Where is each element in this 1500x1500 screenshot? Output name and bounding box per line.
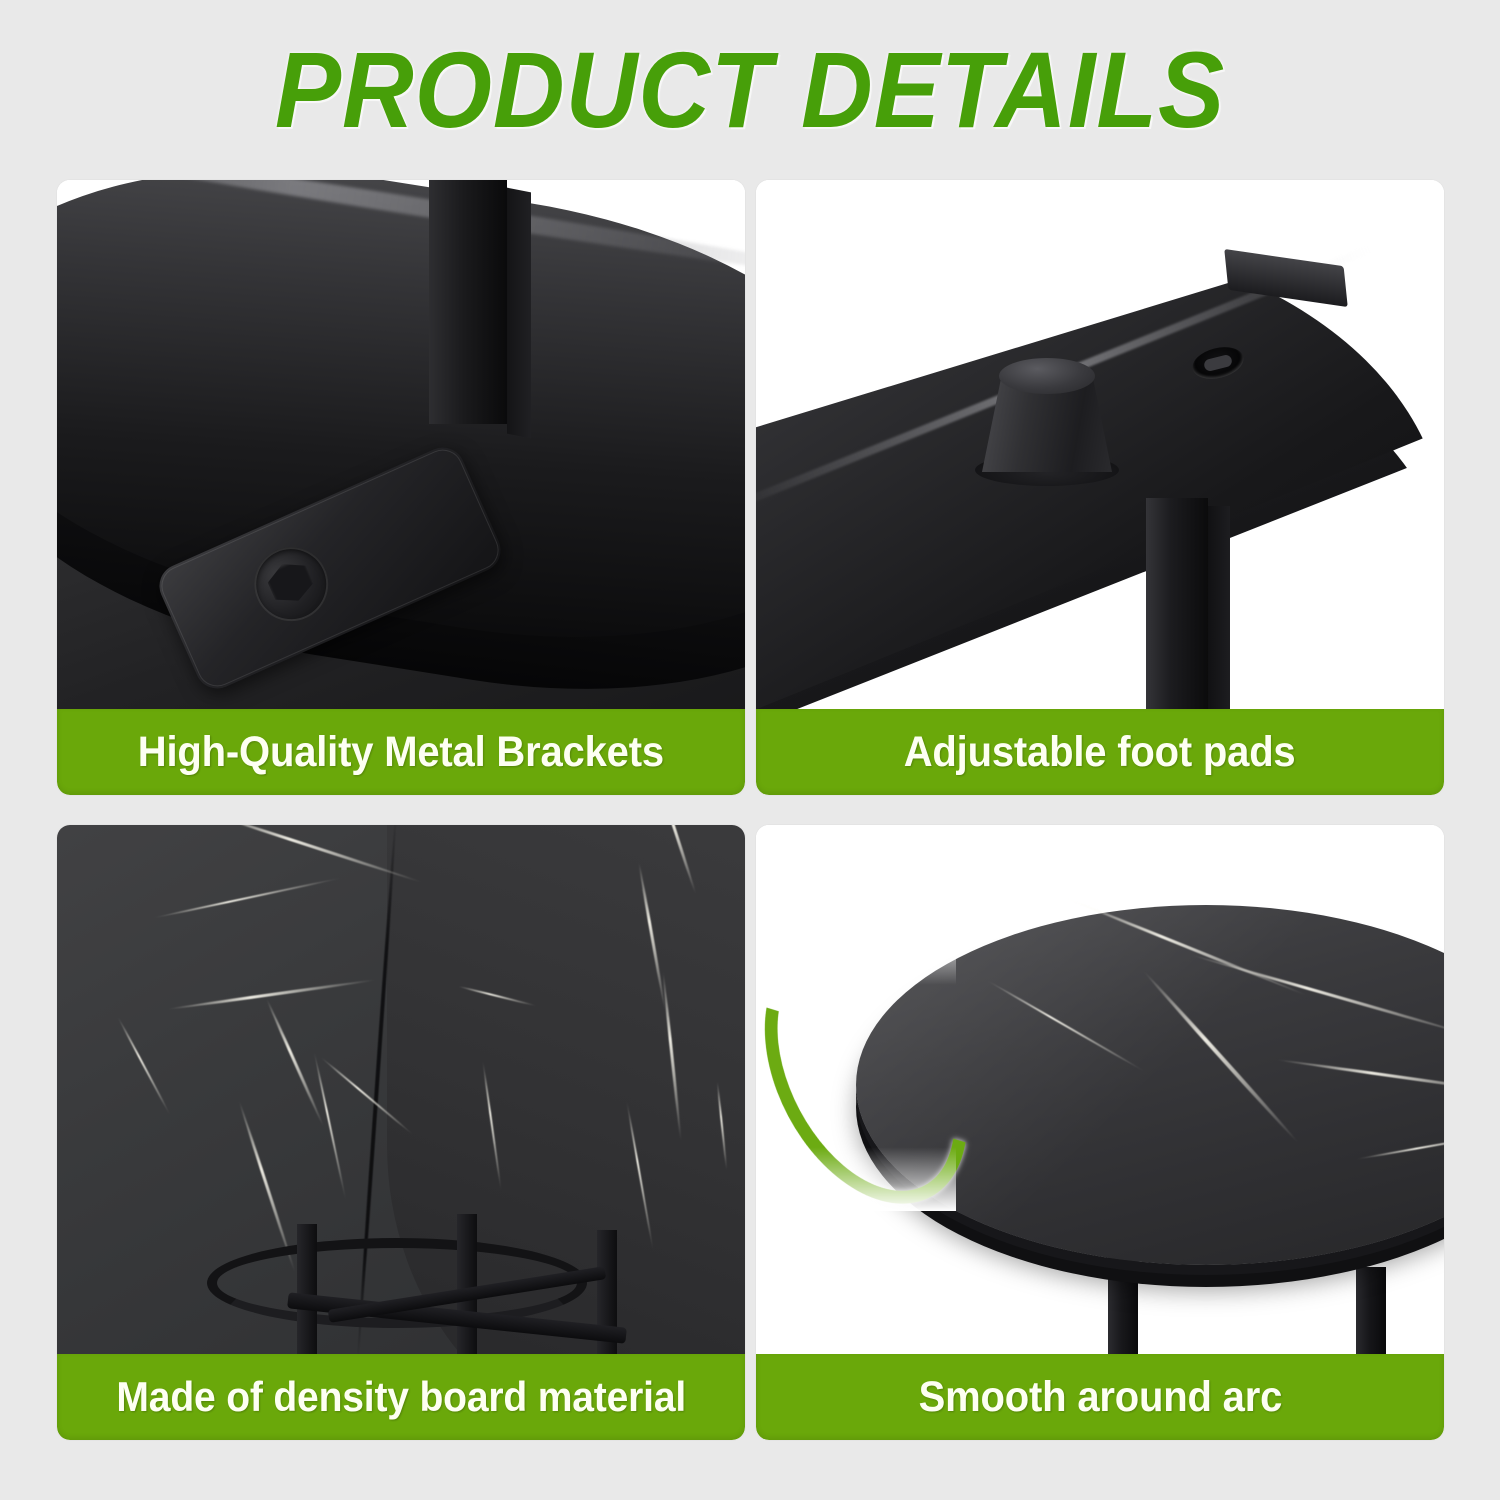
product-details-grid: High-Quality Metal Brackets Adjustable f… — [57, 180, 1444, 1448]
photo-metal-brackets — [57, 180, 745, 709]
page-title: PRODUCT DETAILS — [60, 34, 1440, 146]
photo-density-board — [57, 825, 745, 1354]
caption-bar-density-board: Made of density board material — [57, 1354, 745, 1440]
detail-tile-smooth-arc[interactable]: Smooth around arc — [756, 825, 1444, 1440]
photo-foot-pads — [756, 180, 1444, 709]
hex-screw-icon — [263, 556, 318, 610]
table-leg — [1146, 498, 1208, 709]
vertical-post-side — [507, 188, 531, 439]
detail-tile-foot-pads[interactable]: Adjustable foot pads — [756, 180, 1444, 795]
caption-label: High-Quality Metal Brackets — [138, 729, 664, 775]
table-leg — [457, 1214, 477, 1354]
detail-tile-metal-brackets[interactable]: High-Quality Metal Brackets — [57, 180, 745, 795]
caption-bar-metal-brackets: High-Quality Metal Brackets — [57, 709, 745, 795]
vertical-post — [429, 180, 507, 424]
table-leg — [1108, 1245, 1138, 1354]
caption-bar-foot-pads: Adjustable foot pads — [756, 709, 1444, 795]
arc-fade-mask — [766, 921, 956, 1211]
caption-bar-smooth-arc: Smooth around arc — [756, 1354, 1444, 1440]
table-leg — [1356, 1267, 1386, 1354]
screw-hole-inner — [1203, 354, 1233, 372]
table-leg — [297, 1224, 317, 1354]
table-leg-side — [1208, 506, 1230, 709]
foot-pad-top — [999, 358, 1095, 394]
table-legs-group — [267, 1214, 667, 1354]
detail-tile-density-board[interactable]: Made of density board material — [57, 825, 745, 1440]
caption-label: Adjustable foot pads — [904, 729, 1296, 775]
photo-smooth-arc — [756, 825, 1444, 1354]
caption-label: Made of density board material — [116, 1374, 686, 1420]
caption-label: Smooth around arc — [918, 1374, 1281, 1420]
